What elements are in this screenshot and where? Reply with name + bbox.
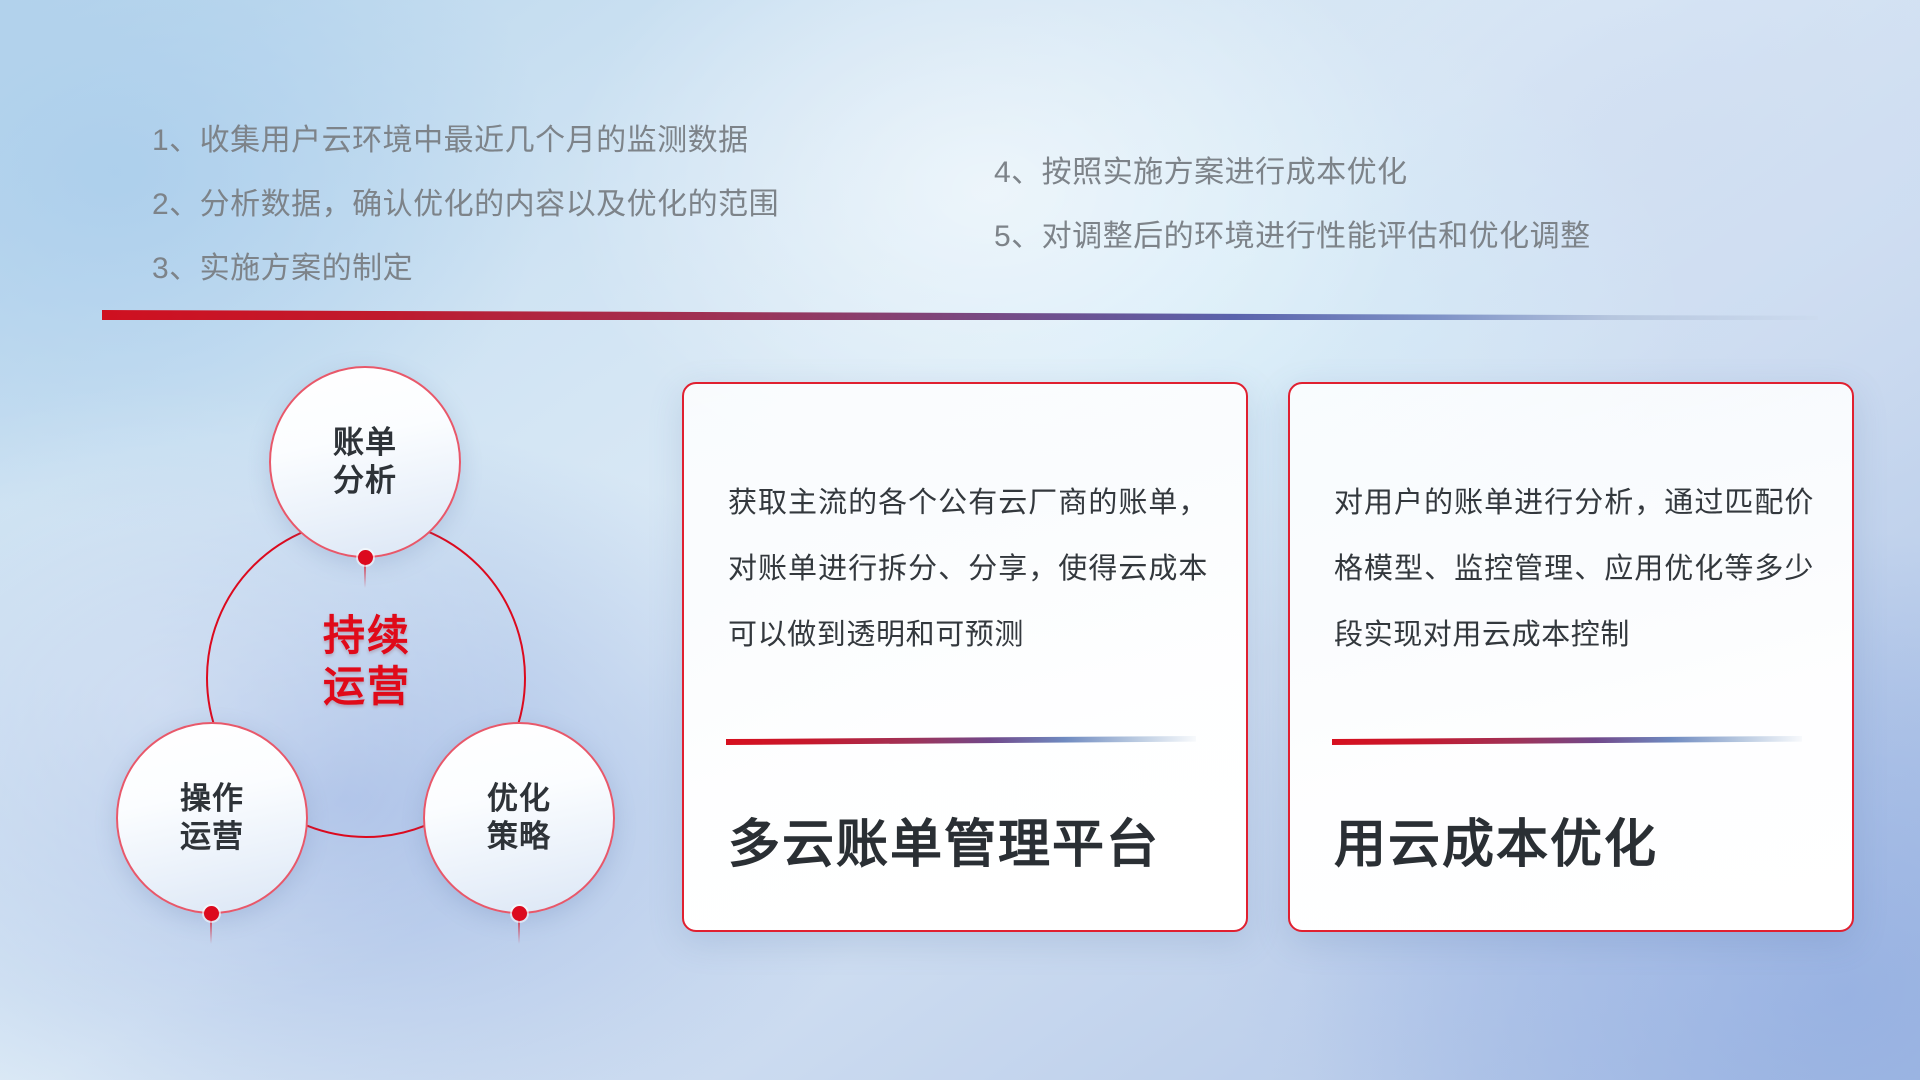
node-connector-tail-right xyxy=(518,918,520,944)
slide-canvas: 1、收集用户云环境中最近几个月的监测数据 2、分析数据，确认优化的内容以及优化的… xyxy=(0,0,1920,1080)
step-item-2: 2、分析数据，确认优化的内容以及优化的范围 xyxy=(152,190,779,220)
card-body-text: 获取主流的各个公有云厂商的账单，对账单进行拆分、分享，使得云成本可以做到透明和可… xyxy=(728,470,1208,668)
card-title: 多云账单管理平台 xyxy=(728,802,1160,877)
node-label-line-1: 操作 xyxy=(180,780,244,818)
node-dot-left xyxy=(204,906,219,921)
node-label: 操作 运营 xyxy=(180,780,244,856)
node-label: 账单 分析 xyxy=(333,424,397,500)
node-connector-tail-left xyxy=(210,918,212,944)
diagram-center-label: 持续 运营 xyxy=(282,610,452,712)
node-label: 优化 策略 xyxy=(487,780,551,856)
node-label-line-1: 优化 xyxy=(487,780,551,818)
step-item-3: 3、实施方案的制定 xyxy=(152,254,779,284)
node-label-line-2: 策略 xyxy=(487,818,551,856)
center-label-line-1: 持续 xyxy=(282,610,452,661)
steps-list-left: 1、收集用户云环境中最近几个月的监测数据 2、分析数据，确认优化的内容以及优化的… xyxy=(152,126,779,284)
node-dot-top xyxy=(358,550,373,565)
feature-card-cloud-cost-optimization[interactable]: 对用户的账单进行分析，通过匹配价格模型、监控管理、应用优化等多少段实现对用云成本… xyxy=(1288,382,1854,932)
diagram-node-bill-analysis[interactable]: 账单 分析 xyxy=(269,366,461,558)
center-label-line-2: 运营 xyxy=(282,661,452,712)
node-label-line-2: 分析 xyxy=(333,462,397,500)
card-title: 用云成本优化 xyxy=(1334,802,1658,877)
card-divider-rule xyxy=(726,736,1196,745)
step-item-4: 4、按照实施方案进行成本优化 xyxy=(994,158,1591,188)
step-item-5: 5、对调整后的环境进行性能评估和优化调整 xyxy=(994,222,1591,252)
card-divider-rule xyxy=(1332,736,1802,745)
diagram-node-operations[interactable]: 操作 运营 xyxy=(116,722,308,914)
diagram-node-optimization-strategy[interactable]: 优化 策略 xyxy=(423,722,615,914)
feature-card-multicloud-billing[interactable]: 获取主流的各个公有云厂商的账单，对账单进行拆分、分享，使得云成本可以做到透明和可… xyxy=(682,382,1248,932)
node-label-line-2: 运营 xyxy=(180,818,244,856)
step-item-1: 1、收集用户云环境中最近几个月的监测数据 xyxy=(152,126,779,156)
card-body-text: 对用户的账单进行分析，通过匹配价格模型、监控管理、应用优化等多少段实现对用云成本… xyxy=(1334,470,1814,668)
node-label-line-1: 账单 xyxy=(333,424,397,462)
node-connector-tail-top xyxy=(364,562,366,588)
steps-list-right: 4、按照实施方案进行成本优化 5、对调整后的环境进行性能评估和优化调整 xyxy=(994,158,1591,252)
node-dot-right xyxy=(512,906,527,921)
continuous-operation-diagram: 持续 运营 账单 分析 操作 运营 优化 策略 xyxy=(96,348,656,938)
section-divider-rule xyxy=(102,310,1818,320)
